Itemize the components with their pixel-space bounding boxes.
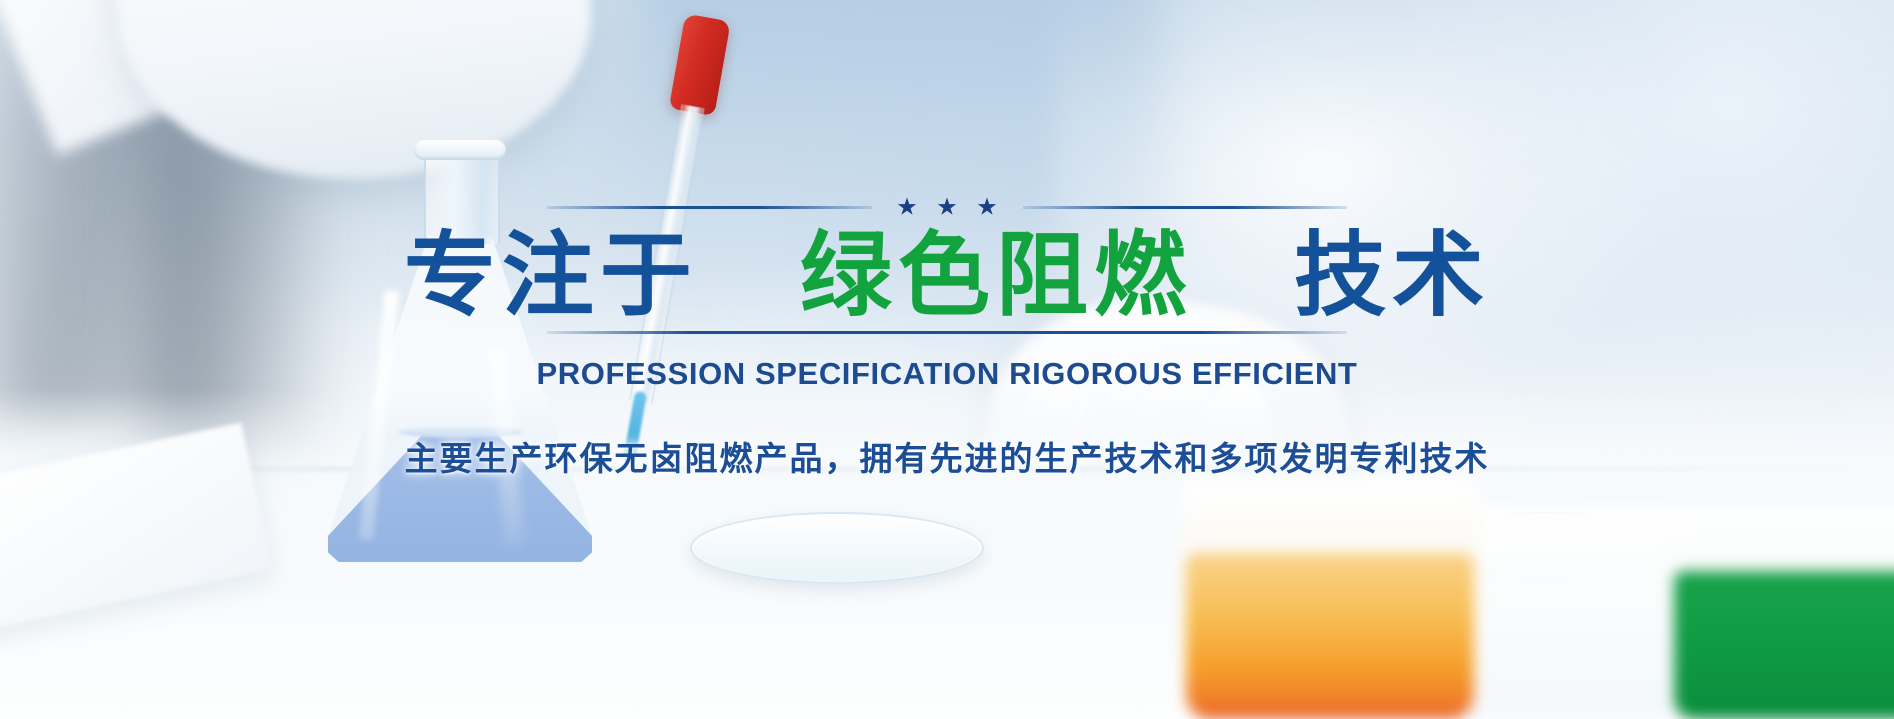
divider-rule-right	[1023, 206, 1348, 209]
petri-dish-left	[690, 512, 984, 584]
star-group	[872, 198, 1023, 217]
headline-segment-1: 专注于	[404, 222, 698, 329]
banner-text-block: 专注于 绿色阻燃 技术 PROFESSION SPECIFICATION RIG…	[0, 196, 1894, 480]
clear-beaker	[1452, 507, 1688, 719]
star-icon	[898, 198, 917, 217]
divider-rule-left	[547, 206, 872, 209]
orange-flask-liquid	[1186, 553, 1474, 719]
strapline: PROFESSION SPECIFICATION RIGOROUS EFFICI…	[537, 356, 1358, 392]
star-icon	[978, 198, 997, 217]
flask-lip	[414, 140, 506, 160]
page-title: 专注于 绿色阻燃 技术	[404, 226, 1490, 325]
tagline: 主要生产环保无卤阻燃产品，拥有先进的生产技术和多项发明专利技术	[405, 432, 1490, 480]
green-flask-liquid	[1674, 571, 1894, 719]
headline-segment-3: 技术	[1294, 222, 1490, 329]
hero-banner: 专注于 绿色阻燃 技术 PROFESSION SPECIFICATION RIG…	[0, 0, 1894, 719]
headline-underline	[547, 331, 1347, 334]
green-flask	[1668, 509, 1894, 719]
headline-segment-2: 绿色阻燃	[800, 222, 1192, 329]
orange-flask	[1180, 479, 1480, 719]
star-icon	[938, 198, 957, 217]
star-divider	[547, 196, 1347, 218]
